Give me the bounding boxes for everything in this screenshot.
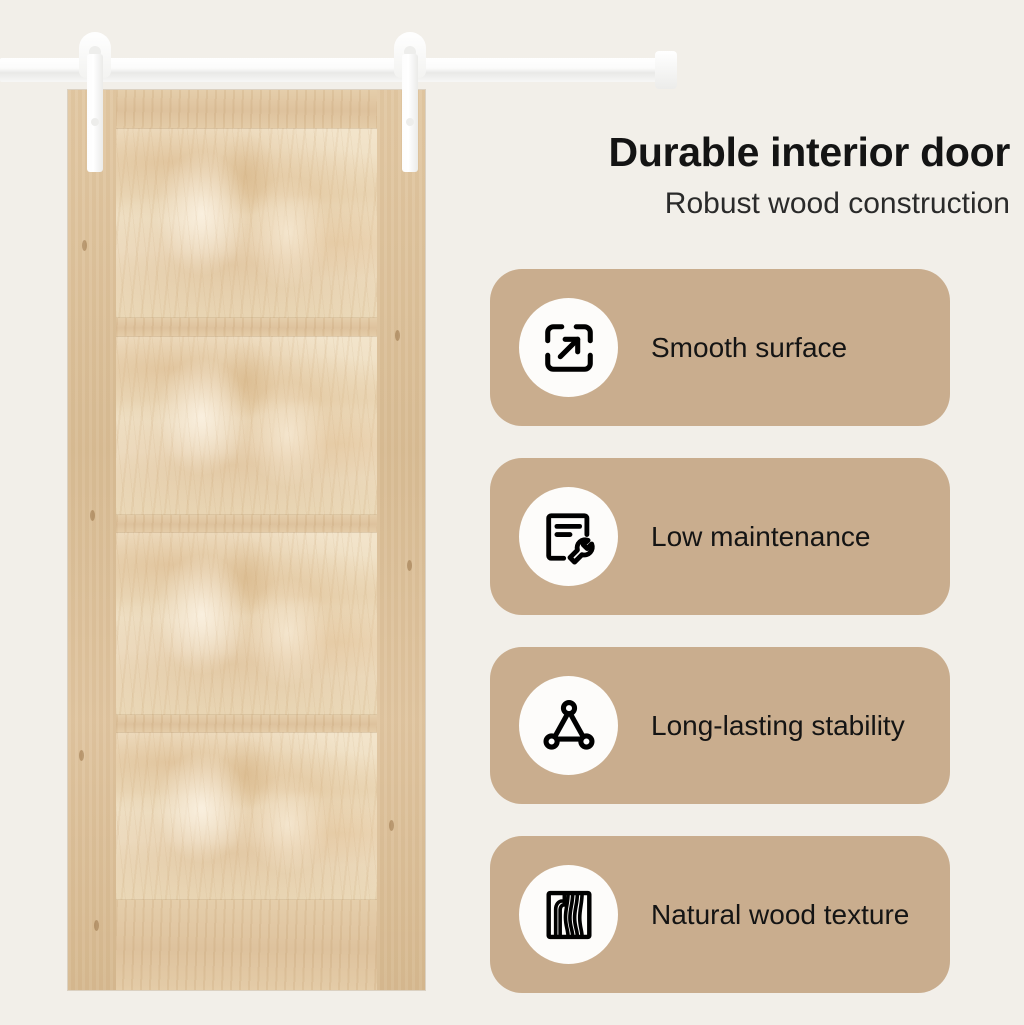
- door-panel-2: [116, 336, 377, 515]
- door-stile-left: [68, 90, 116, 990]
- door-bottom-rail: [116, 900, 377, 990]
- feature-label: Smooth surface: [651, 331, 847, 365]
- hanger-strap: [87, 54, 103, 172]
- hanger-bolt-icon: [406, 118, 414, 126]
- door-rail-2: [116, 515, 377, 532]
- feature-label: Low maintenance: [651, 520, 870, 554]
- rail-end-stop-icon: [655, 51, 677, 89]
- feature-card-low-maintenance[interactable]: Low maintenance: [490, 458, 950, 615]
- feature-label: Natural wood texture: [651, 898, 909, 932]
- door-slab: [68, 90, 425, 990]
- hanger-bolt-icon: [91, 118, 99, 126]
- feature-card-natural-wood-texture[interactable]: Natural wood texture: [490, 836, 950, 993]
- page-subtitle: Robust wood construction: [490, 186, 1010, 222]
- door-rail-3: [116, 715, 377, 732]
- wood-grain-icon: [519, 865, 618, 964]
- feature-card-long-lasting-stability[interactable]: Long-lasting stability: [490, 647, 950, 804]
- hanger-strap: [402, 54, 418, 172]
- document-wrench-icon: [519, 487, 618, 586]
- feature-label: Long-lasting stability: [651, 709, 905, 743]
- page-title: Durable interior door: [490, 130, 1010, 176]
- door-rail-1: [116, 318, 377, 336]
- door-stile-right: [377, 90, 425, 990]
- door-panel-4: [116, 732, 377, 900]
- info-panel: Durable interior door Robust wood constr…: [470, 0, 1024, 1024]
- expand-arrow-square-icon: [519, 298, 618, 397]
- feature-card-smooth-surface[interactable]: Smooth surface: [490, 269, 950, 426]
- feature-list: Smooth surface Low maintenance: [490, 269, 970, 1025]
- door-panel-3: [116, 532, 377, 715]
- door-panel-1: [116, 128, 377, 318]
- product-image: [0, 0, 470, 1024]
- triangle-nodes-icon: [519, 676, 618, 775]
- door-rail-top: [116, 90, 377, 128]
